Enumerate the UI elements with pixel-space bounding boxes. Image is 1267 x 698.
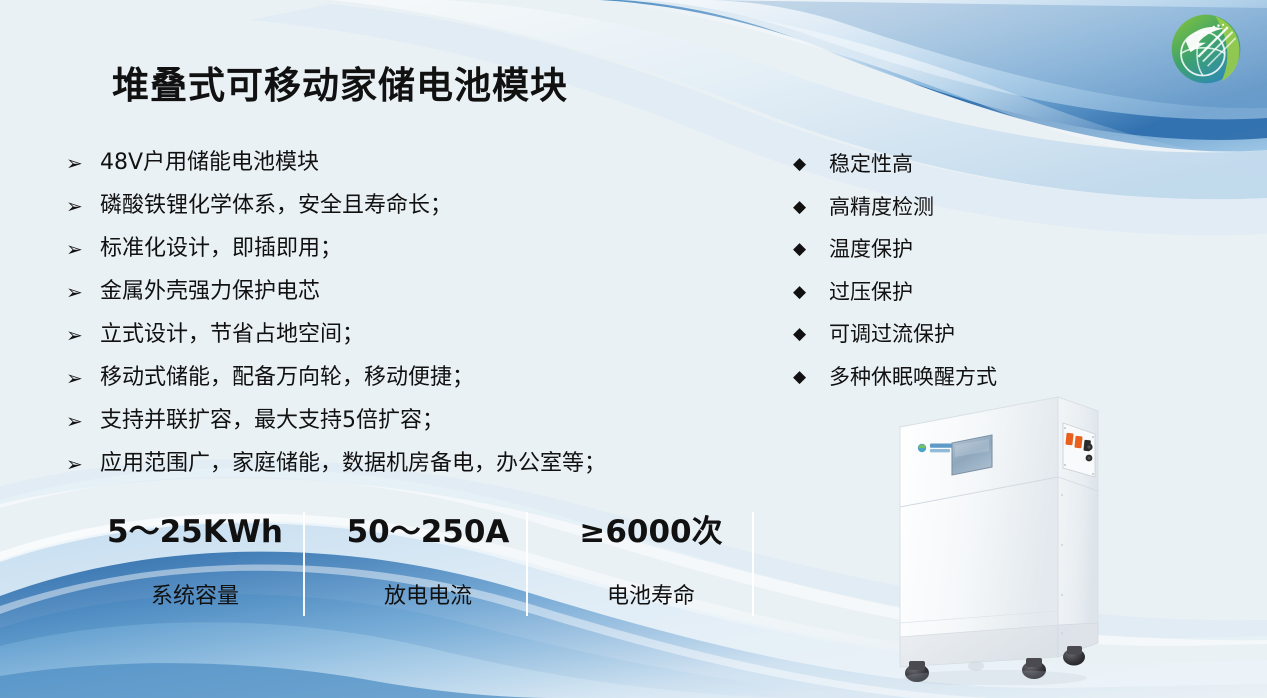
left-feature-list: ➢ 48V户用储能电池模块 ➢ 磷酸铁锂化学体系，安全且寿命长； ➢ 标准化设计… [66,148,726,492]
battery-cabinet-illustration [880,385,1120,685]
arrow-bullet-icon: ➢ [66,449,100,479]
diamond-bullet-icon: ◆ [793,278,829,307]
right-feature-list: ◆ 稳定性高 ◆ 高精度检测 ◆ 温度保护 ◆ 过压保护 ◆ 可调过流保护 ◆ … [793,150,1123,405]
diamond-bullet-icon: ◆ [793,193,829,222]
page-title: 堆叠式可移动家储电池模块 [112,55,568,109]
diamond-bullet-icon: ◆ [793,235,829,264]
list-item: ➢ 48V户用储能电池模块 [66,148,726,191]
company-logo [1167,10,1245,88]
product-image [880,385,1120,685]
list-item-label: 温度保护 [829,235,913,264]
list-item-label: 48V户用储能电池模块 [100,148,319,178]
list-item: ➢ 标准化设计，即插即用； [66,234,726,277]
spec-label: 电池寿命 [536,582,766,612]
slide-canvas: 堆叠式可移动家储电池模块 ➢ 48V户用储能电池模块 ➢ 磷酸铁锂化学体系，安全… [0,0,1267,698]
spec-value: ≥6000次 [536,512,766,552]
list-item-label: 金属外壳强力保护电芯 [100,277,320,307]
arrow-bullet-icon: ➢ [66,234,100,264]
list-item-label: 可调过流保护 [829,320,955,349]
diamond-bullet-icon: ◆ [793,320,829,349]
spec-highlights: 5～25KWh 系统容量 50～250A 放电电流 ≥6000次 电池寿命 [80,512,770,620]
list-item-label: 过压保护 [829,278,913,307]
spec-label: 放电电流 [313,582,543,612]
diamond-bullet-icon: ◆ [793,150,829,179]
leaf-emblem-icon [1167,10,1245,88]
spec-item-capacity: 5～25KWh 系统容量 [80,512,310,612]
list-item: ◆ 高精度检测 [793,193,1123,236]
list-item: ◆ 稳定性高 [793,150,1123,193]
list-item: ➢ 金属外壳强力保护电芯 [66,277,726,320]
list-item-label: 标准化设计，即插即用； [100,234,342,264]
spec-divider [752,512,754,616]
spec-item-cycle-life: ≥6000次 电池寿命 [536,512,766,612]
list-item-label: 移动式储能，配备万向轮，移动便捷； [100,363,474,393]
caster-wheel [968,661,984,671]
arrow-bullet-icon: ➢ [66,277,100,307]
arrow-bullet-icon: ➢ [66,320,100,350]
spec-value: 5～25KWh [80,512,310,552]
list-item: ◆ 可调过流保护 [793,320,1123,363]
list-item-label: 立式设计，节省占地空间； [100,320,364,350]
spec-item-current: 50～250A 放电电流 [313,512,543,612]
list-item: ◆ 温度保护 [793,235,1123,278]
diamond-bullet-icon: ◆ [793,363,829,392]
list-item: ➢ 立式设计，节省占地空间； [66,320,726,363]
spec-label: 系统容量 [80,582,310,612]
arrow-bullet-icon: ➢ [66,363,100,393]
spec-divider [303,512,305,616]
arrow-bullet-icon: ➢ [66,148,100,178]
list-item-label: 应用范围广，家庭储能，数据机房备电，办公室等； [100,449,606,479]
list-item-label: 高精度检测 [829,193,934,222]
list-item-label: 稳定性高 [829,150,913,179]
list-item-label: 磷酸铁锂化学体系，安全且寿命长； [100,191,452,221]
list-item: ➢ 移动式储能，配备万向轮，移动便捷； [66,363,726,406]
spec-value: 50～250A [313,512,543,552]
list-item: ◆ 过压保护 [793,278,1123,321]
list-item-label: 支持并联扩容，最大支持5倍扩容； [100,406,444,436]
arrow-bullet-icon: ➢ [66,406,100,436]
list-item: ➢ 支持并联扩容，最大支持5倍扩容； [66,406,726,449]
list-item: ➢ 磷酸铁锂化学体系，安全且寿命长； [66,191,726,234]
list-item: ➢ 应用范围广，家庭储能，数据机房备电，办公室等； [66,449,726,492]
arrow-bullet-icon: ➢ [66,191,100,221]
spec-divider [526,512,528,616]
